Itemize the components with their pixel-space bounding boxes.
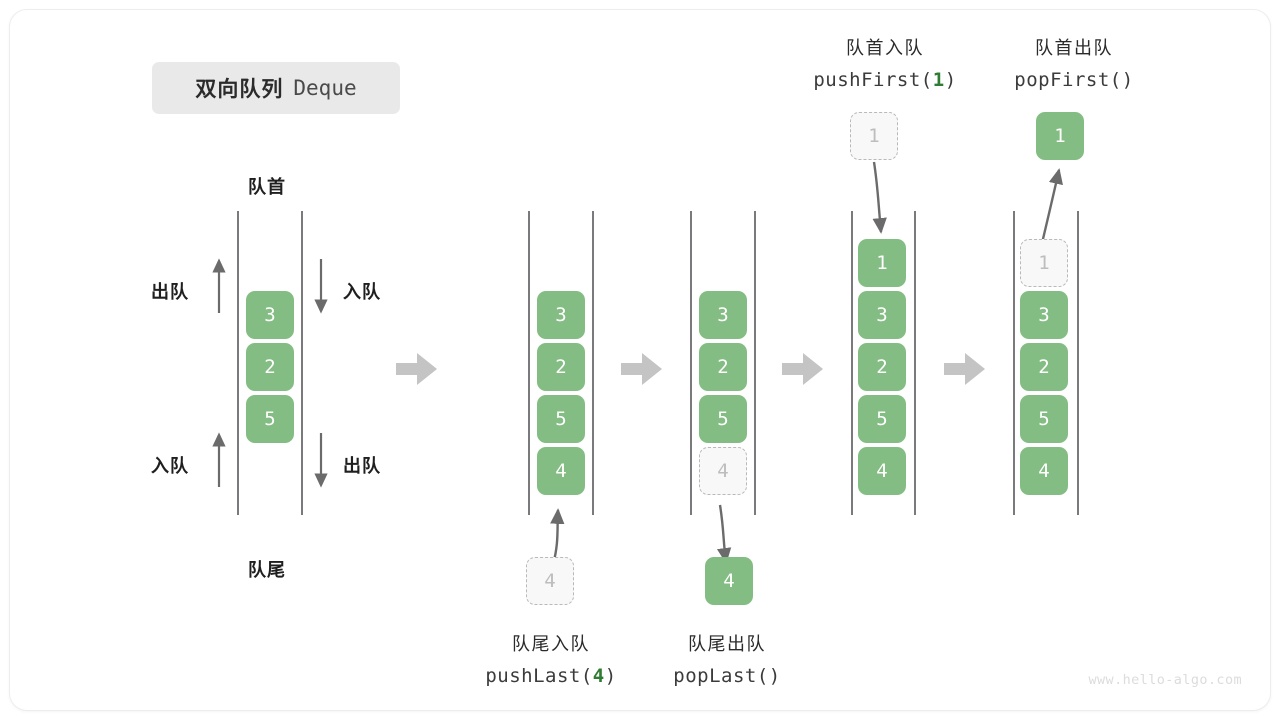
- panel2-ghost-box: 4: [526, 557, 574, 605]
- panel1-left-top-label: 出队: [151, 278, 189, 304]
- panel1-box-2: 5: [246, 395, 294, 443]
- panel1-right-bottom-label: 出队: [343, 452, 381, 478]
- panel1-right-top-label: 入队: [343, 278, 381, 304]
- panel5-code-name: popFirst(: [1014, 69, 1121, 91]
- panel3-box-2: 5: [699, 395, 747, 443]
- panel1-bottom-label: 队尾: [248, 556, 286, 582]
- diagram-card: 双向队列 Deque: [9, 9, 1271, 711]
- panel2-box-2: 5: [537, 395, 585, 443]
- flow-arrow-2: [621, 353, 662, 385]
- panel3-code-tail: ): [769, 665, 781, 687]
- panel4-code-name: pushFirst(: [813, 69, 932, 91]
- panel5-code-tail: ): [1122, 69, 1134, 91]
- panel5-box-1: 2: [1020, 343, 1068, 391]
- watermark: www.hello-algo.com: [1089, 672, 1243, 688]
- pushfirst-arrow: [874, 162, 881, 232]
- panel1-left-bottom-label: 入队: [151, 452, 189, 478]
- panel3-ghost-box: 4: [699, 447, 747, 495]
- panel4-box-2: 2: [858, 343, 906, 391]
- panel3-code-name: popLast(: [673, 665, 769, 687]
- panel5-caption-code: popFirst(): [929, 69, 1219, 91]
- panel5-caption-cn: 队首出队: [929, 34, 1219, 60]
- panel3-caption-code: popLast(): [582, 665, 872, 687]
- panel5-popped-box: 1: [1036, 112, 1084, 160]
- panel2-box-0: 3: [537, 291, 585, 339]
- panel5-box-0: 3: [1020, 291, 1068, 339]
- panel3-popped-box: 4: [705, 557, 753, 605]
- panel3-box-0: 3: [699, 291, 747, 339]
- title-en: Deque: [293, 76, 356, 100]
- panel4-box-3: 5: [858, 395, 906, 443]
- panel3-caption: 队尾出队 popLast(): [582, 630, 872, 687]
- poplast-arrow: [720, 505, 726, 562]
- panel2-box-3: 4: [537, 447, 585, 495]
- panel4-box-4: 4: [858, 447, 906, 495]
- panel2-code-name: pushLast(: [485, 665, 592, 687]
- flow-arrow-4: [944, 353, 985, 385]
- panel3-box-1: 2: [699, 343, 747, 391]
- flow-arrow-1: [396, 353, 437, 385]
- panel1-box-0: 3: [246, 291, 294, 339]
- panel1-top-label: 队首: [248, 173, 286, 199]
- panel4-box-0: 1: [858, 239, 906, 287]
- panel4-box-1: 3: [858, 291, 906, 339]
- panel2-box-1: 2: [537, 343, 585, 391]
- panel3-caption-cn: 队尾出队: [582, 630, 872, 656]
- panel5-box-3: 4: [1020, 447, 1068, 495]
- flow-arrow-3: [782, 353, 823, 385]
- panel4-ghost-box: 1: [850, 112, 898, 160]
- panel1-box-1: 2: [246, 343, 294, 391]
- diagram-title: 双向队列 Deque: [152, 62, 400, 114]
- panel5-box-2: 5: [1020, 395, 1068, 443]
- panel5-ghost-box: 1: [1020, 239, 1068, 287]
- panel5-caption: 队首出队 popFirst(): [929, 34, 1219, 91]
- title-cn: 双向队列: [195, 73, 283, 103]
